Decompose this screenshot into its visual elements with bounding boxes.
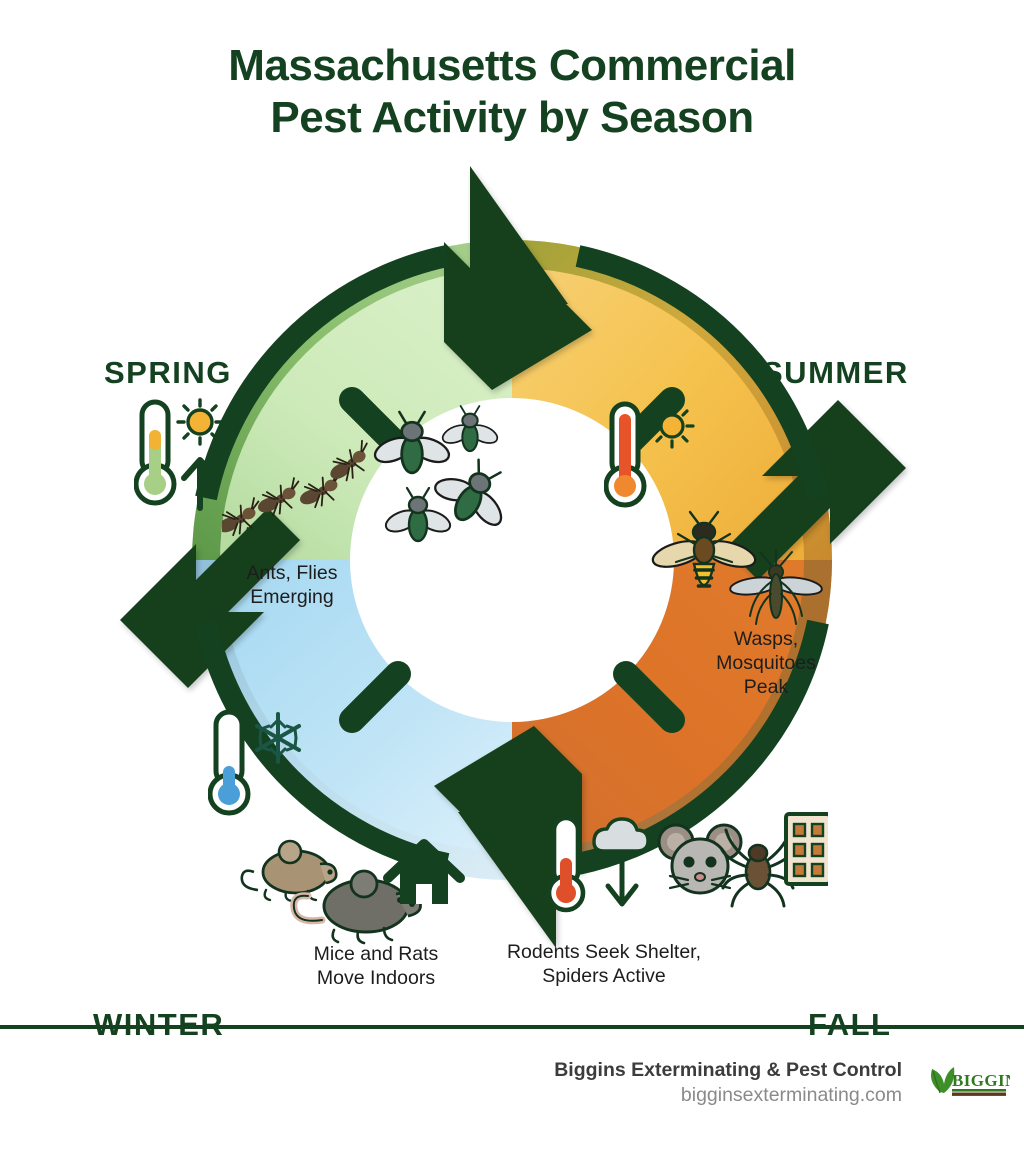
winter-meta-icons: [208, 708, 314, 823]
footer-divider: [0, 1025, 1024, 1029]
sun-icon: [178, 400, 222, 444]
footer-website[interactable]: bigginsexterminating.com: [0, 1083, 902, 1108]
footer-text-block: Biggins Exterminating & Pest Control big…: [0, 1058, 902, 1108]
thermometer-cold-icon: [210, 712, 248, 813]
arrow-down-icon: [608, 856, 636, 904]
mouse-icon: [242, 841, 336, 901]
leaf-icon: [931, 1067, 954, 1093]
thermometer-hot-icon: [606, 404, 644, 505]
page-title-line-1: Massachusetts Commercial: [0, 40, 1024, 92]
wasp-icon: [650, 512, 758, 586]
season-caption-spring: Ants, Flies Emerging: [188, 561, 396, 609]
fly-icon: [372, 412, 453, 473]
sun-icon: [651, 405, 693, 447]
winter-pest-icons: [238, 830, 468, 955]
cloud-icon: [594, 819, 648, 851]
season-caption-fall: Rodents Seek Shelter, Spiders Active: [468, 940, 740, 988]
spring-pest-icons: [222, 405, 512, 570]
summer-meta-icons: [604, 400, 704, 515]
season-label-summer: SUMMER: [762, 355, 909, 391]
footer: Biggins Exterminating & Pest Control big…: [0, 1058, 1024, 1148]
page-title: Massachusetts Commercial Pest Activity b…: [0, 40, 1024, 144]
fly-icon: [440, 406, 500, 451]
svg-text:BIGGINS: BIGGINS: [952, 1071, 1010, 1090]
building-icon: [786, 814, 828, 884]
season-caption-winter: Mice and Rats Move Indoors: [256, 942, 496, 990]
snowflake-icon: [257, 714, 299, 762]
seasonal-cycle-diagram: SPRING SUMMER FALL WINTER: [0, 150, 1024, 1010]
season-caption-summer: Wasps, Mosquitoes Peak: [676, 627, 856, 699]
infographic-page: Massachusetts Commercial Pest Activity b…: [0, 0, 1024, 1154]
brand-logo: BIGGINS: [924, 1062, 1010, 1107]
season-label-spring: SPRING: [104, 355, 232, 391]
thermometer-rising-icon: [136, 402, 174, 503]
arrow-up-icon: [184, 460, 216, 508]
seasonal-donut-wheel: [0, 150, 1024, 1010]
footer-company-name: Biggins Exterminating & Pest Control: [0, 1058, 902, 1083]
ant-icon: [253, 477, 307, 520]
page-title-line-2: Pest Activity by Season: [0, 92, 1024, 144]
fall-icons: [548, 810, 828, 930]
thermometer-falling-icon: [549, 818, 583, 910]
